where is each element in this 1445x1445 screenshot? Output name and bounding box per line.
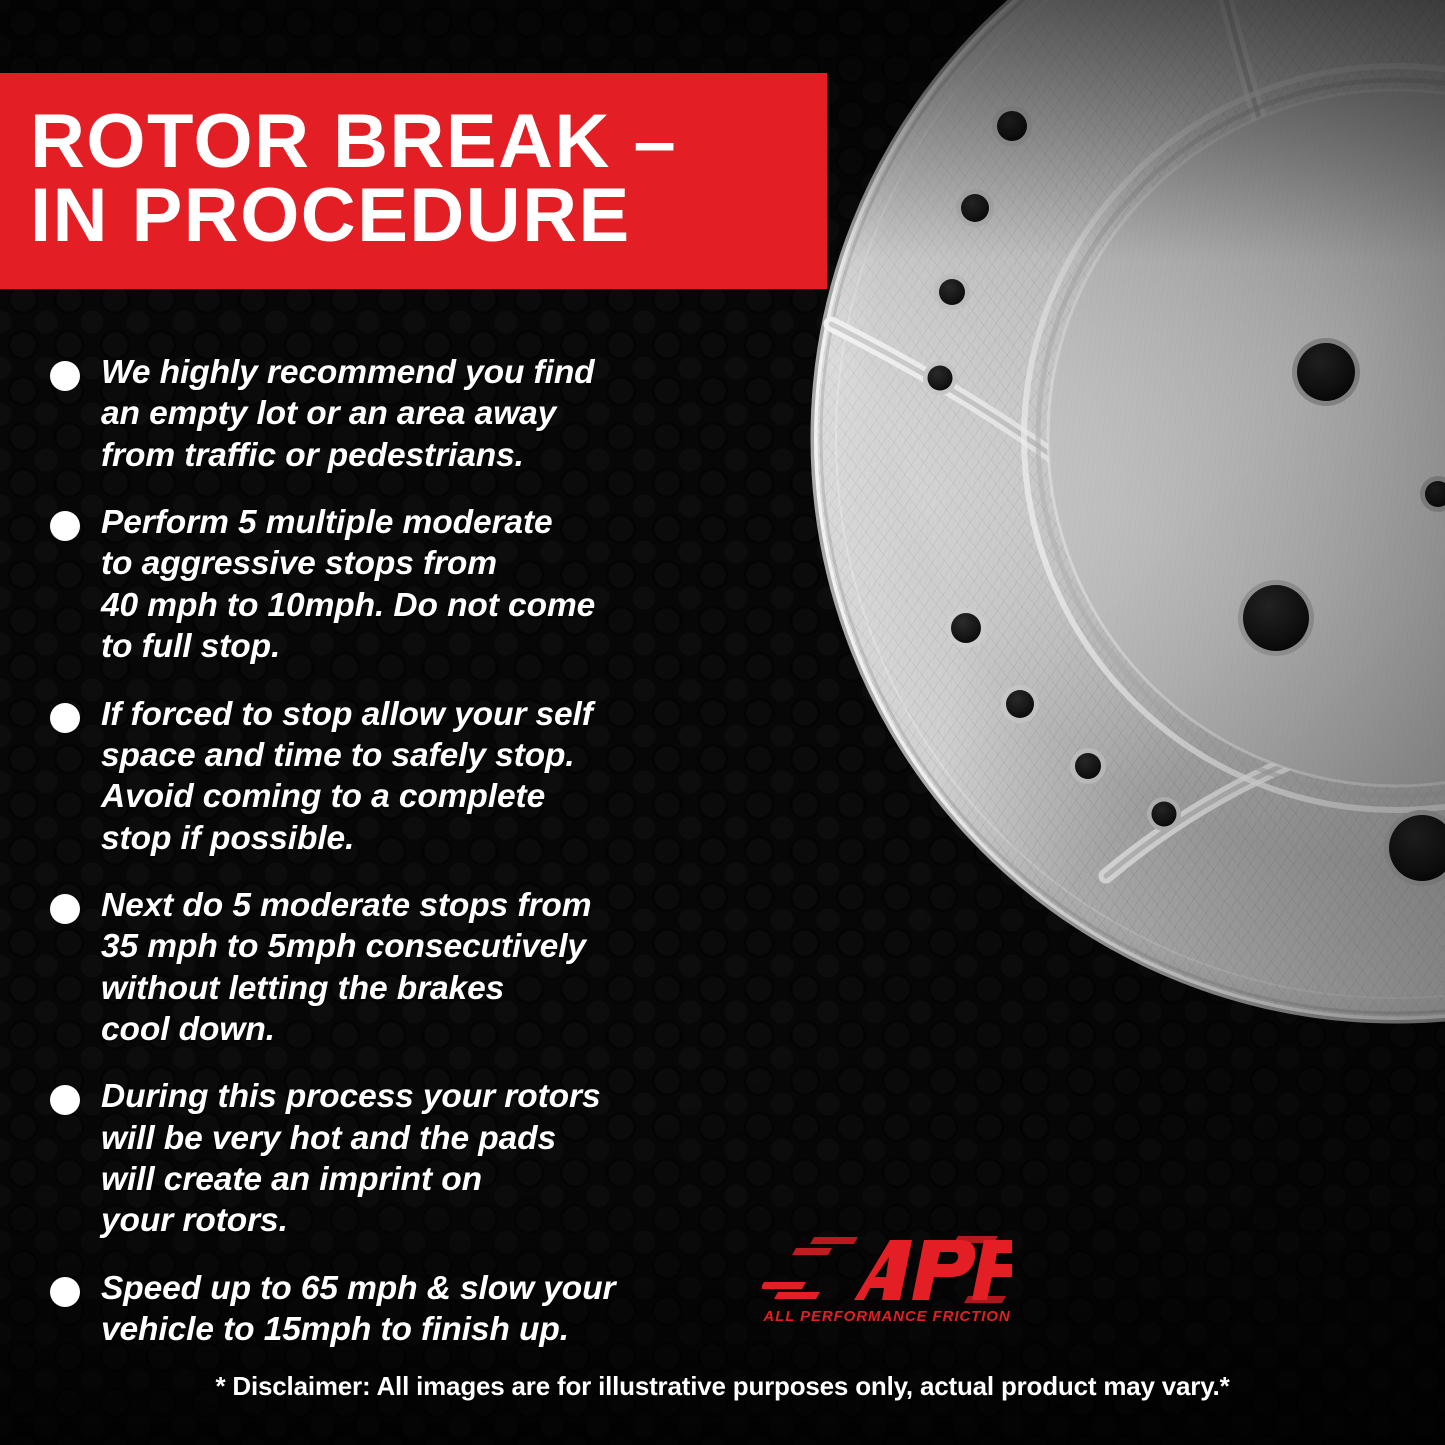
page-title-line-2: IN PROCEDURE: [30, 179, 827, 253]
list-item-text: Next do 5 moderate stops from 35 mph to …: [101, 885, 591, 1050]
bullet-dot-icon: [50, 703, 80, 733]
bullet-dot-icon: [50, 511, 80, 541]
bullet-dot-icon: [50, 894, 80, 924]
list-item: If forced to stop allow your self space …: [50, 694, 770, 859]
list-item-text: We highly recommend you find an empty lo…: [101, 352, 595, 476]
list-item-text: If forced to stop allow your self space …: [101, 694, 593, 859]
instruction-list: We highly recommend you find an empty lo…: [50, 352, 770, 1377]
list-item: We highly recommend you find an empty lo…: [50, 352, 770, 476]
list-item: Next do 5 moderate stops from 35 mph to …: [50, 885, 770, 1050]
list-item: Perform 5 multiple moderate to aggressiv…: [50, 502, 770, 667]
bullet-dot-icon: [50, 361, 80, 391]
list-item: Speed up to 65 mph & slow your vehicle t…: [50, 1268, 770, 1351]
bullet-dot-icon: [50, 1085, 80, 1115]
title-banner: ROTOR BREAK – IN PROCEDURE: [0, 73, 827, 289]
apf-logo-mark-icon: [762, 1234, 1012, 1308]
apf-logo-tagline: ALL PERFORMANCE FRICTION: [762, 1308, 1012, 1325]
list-item-text: Speed up to 65 mph & slow your vehicle t…: [101, 1268, 615, 1351]
apf-logo: ALL PERFORMANCE FRICTION: [762, 1234, 1012, 1342]
list-item-text: Perform 5 multiple moderate to aggressiv…: [101, 502, 595, 667]
bullet-dot-icon: [50, 1277, 80, 1307]
disclaimer-text: * Disclaimer: All images are for illustr…: [0, 1371, 1445, 1402]
page-title-line-1: ROTOR BREAK –: [30, 105, 827, 179]
list-item-text: During this process your rotors will be …: [101, 1076, 600, 1241]
list-item: During this process your rotors will be …: [50, 1076, 770, 1241]
poster-root: ROTOR BREAK – IN PROCEDURE We highly rec…: [0, 0, 1445, 1445]
